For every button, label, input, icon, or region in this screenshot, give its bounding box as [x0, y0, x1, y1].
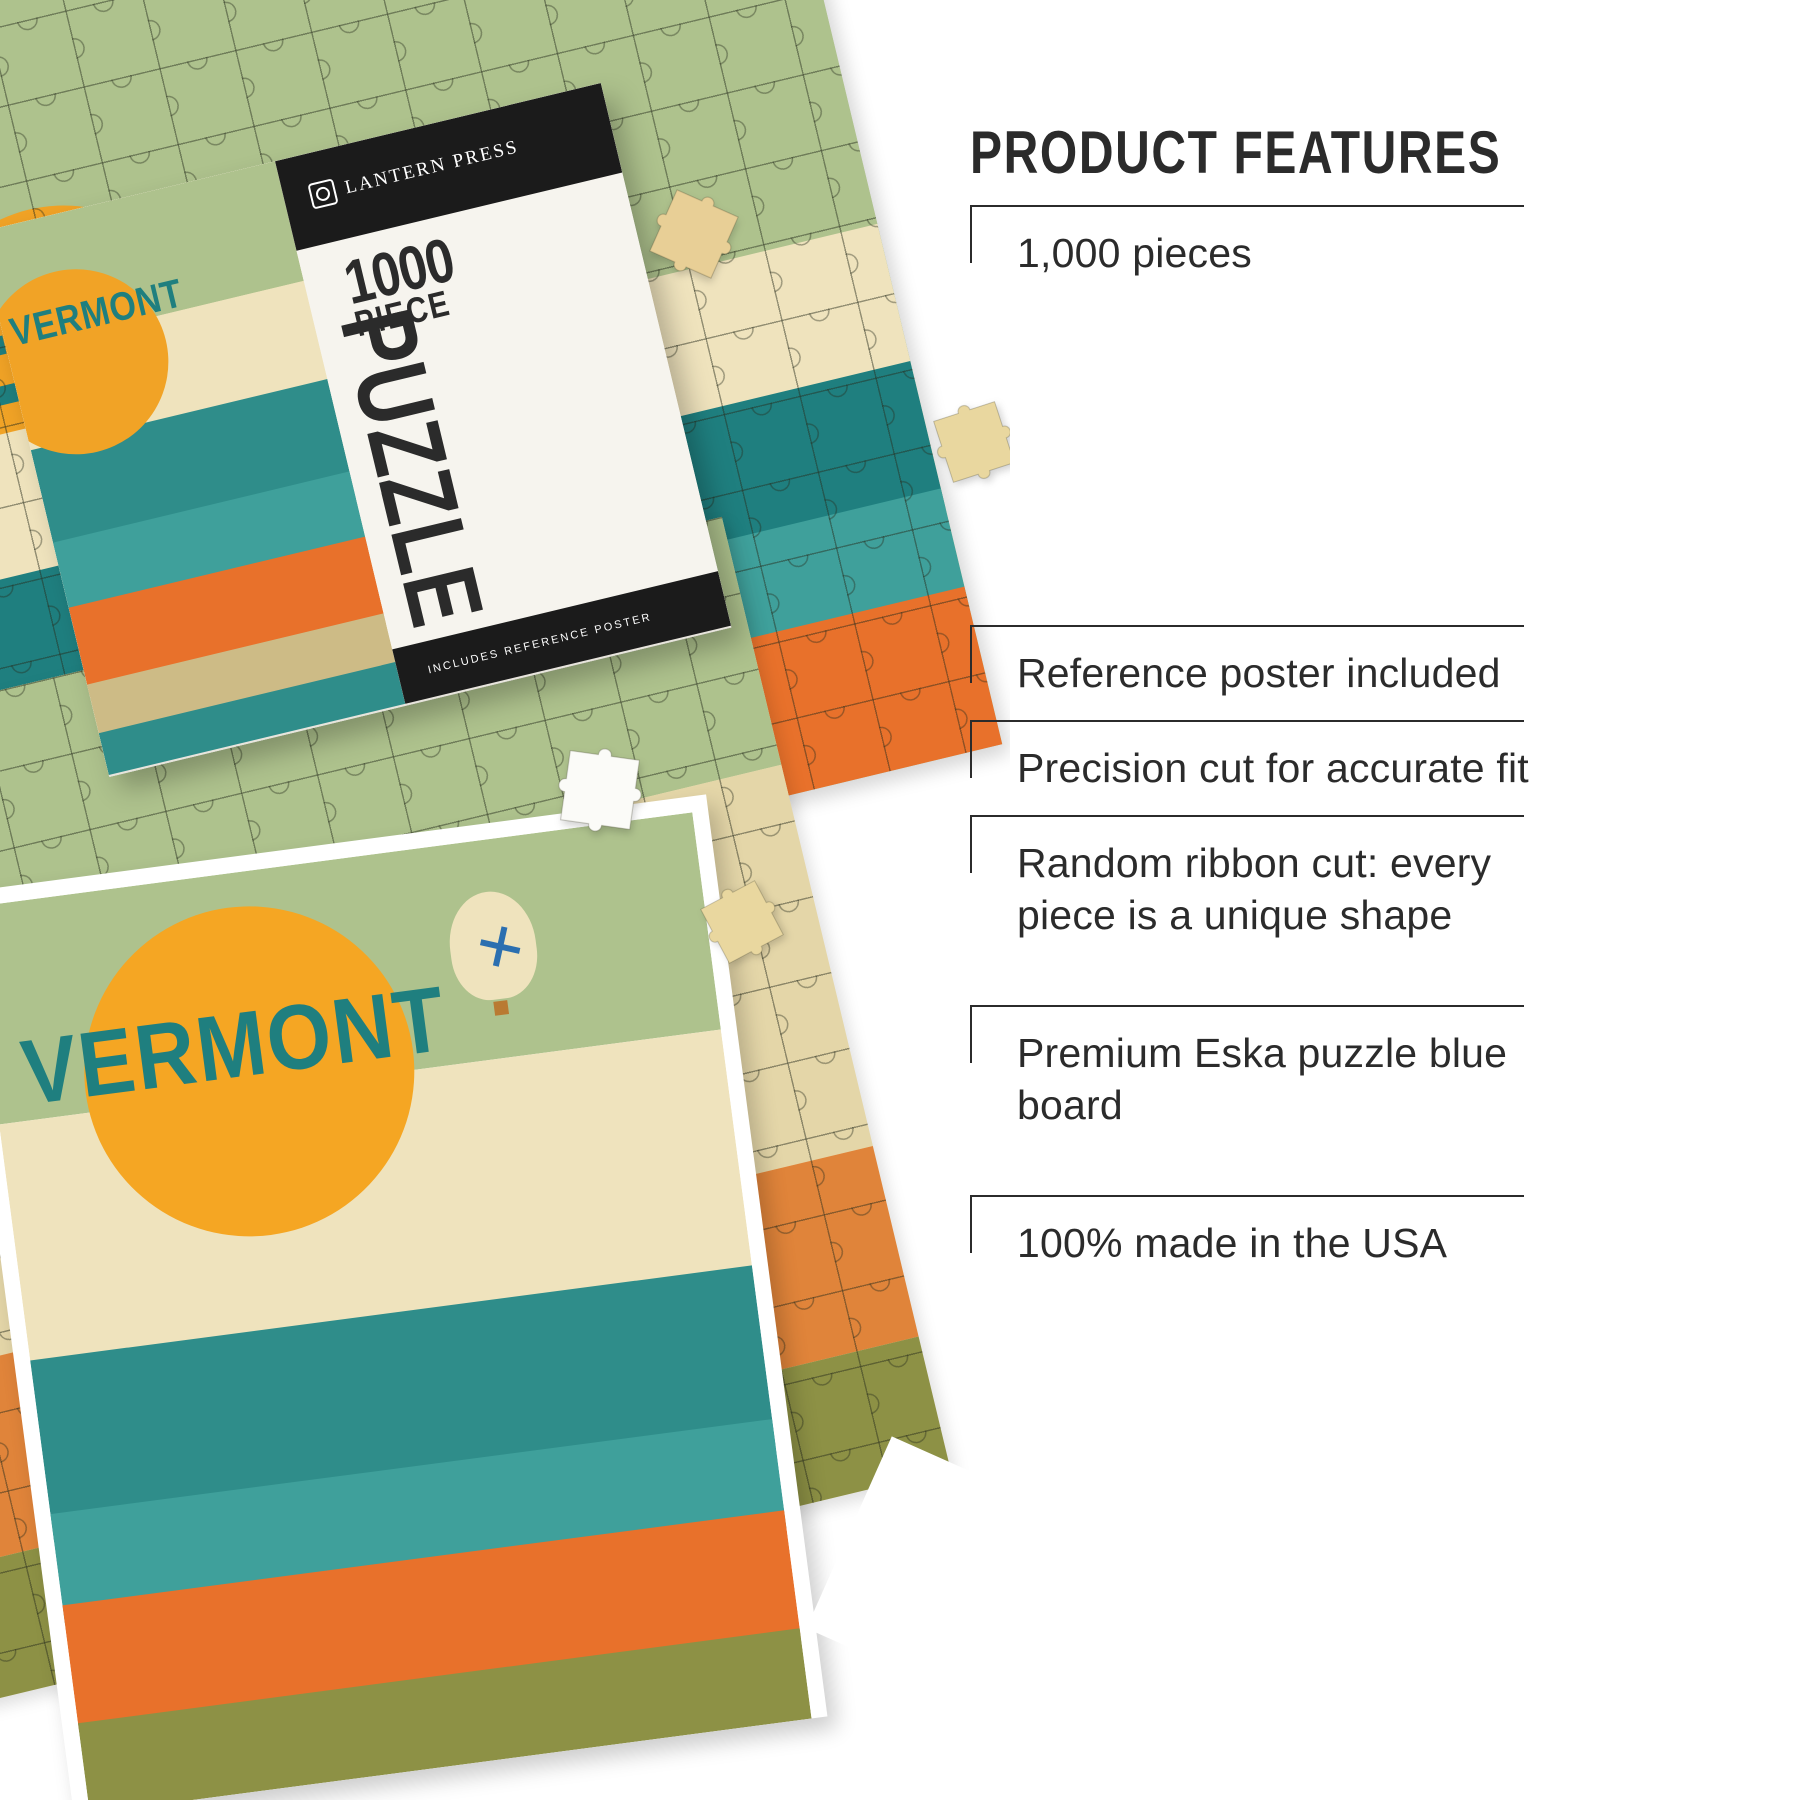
lantern-press-logo: LANTERN PRESS — [307, 134, 521, 209]
feature-text: 100% made in the USA — [1017, 1217, 1577, 1269]
feature-rule-left — [970, 625, 972, 683]
feature-rule-top — [970, 815, 1524, 817]
feature-rule-left — [970, 205, 972, 263]
feature-rule-top — [970, 1005, 1524, 1007]
balloon-star-icon — [476, 923, 524, 971]
feature-rule-top — [970, 625, 1524, 627]
poster-artwork: VERMONT — [0, 812, 812, 1800]
reference-poster: VERMONT — [0, 794, 827, 1800]
feature-text: Premium Eska puzzle blue board — [1017, 1027, 1577, 1132]
feature-rule-left — [970, 815, 972, 873]
feature-rule-top — [970, 205, 1524, 207]
product-feature-graphic: VERMONT — [0, 0, 1800, 1800]
feature-text: Reference poster included — [1017, 647, 1577, 699]
piece-white — [546, 736, 654, 844]
feature-text: 1,000 pieces — [1017, 227, 1577, 279]
lantern-icon — [307, 178, 338, 209]
product-features-panel: PRODUCT FEATURES 1,000 piecesReference p… — [970, 0, 1800, 1800]
page-title: PRODUCT FEATURES — [970, 118, 1501, 187]
feature-text: Random ribbon cut: every piece is a uniq… — [1017, 837, 1577, 942]
product-photo: VERMONT — [0, 0, 1010, 1800]
feature-text: Precision cut for accurate fit — [1017, 742, 1577, 794]
feature-rule-top — [970, 720, 1524, 722]
brand-name: LANTERN PRESS — [343, 136, 521, 199]
feature-rule-left — [970, 720, 972, 778]
feature-rule-top — [970, 1195, 1524, 1197]
feature-rule-left — [970, 1005, 972, 1063]
feature-rule-left — [970, 1195, 972, 1253]
